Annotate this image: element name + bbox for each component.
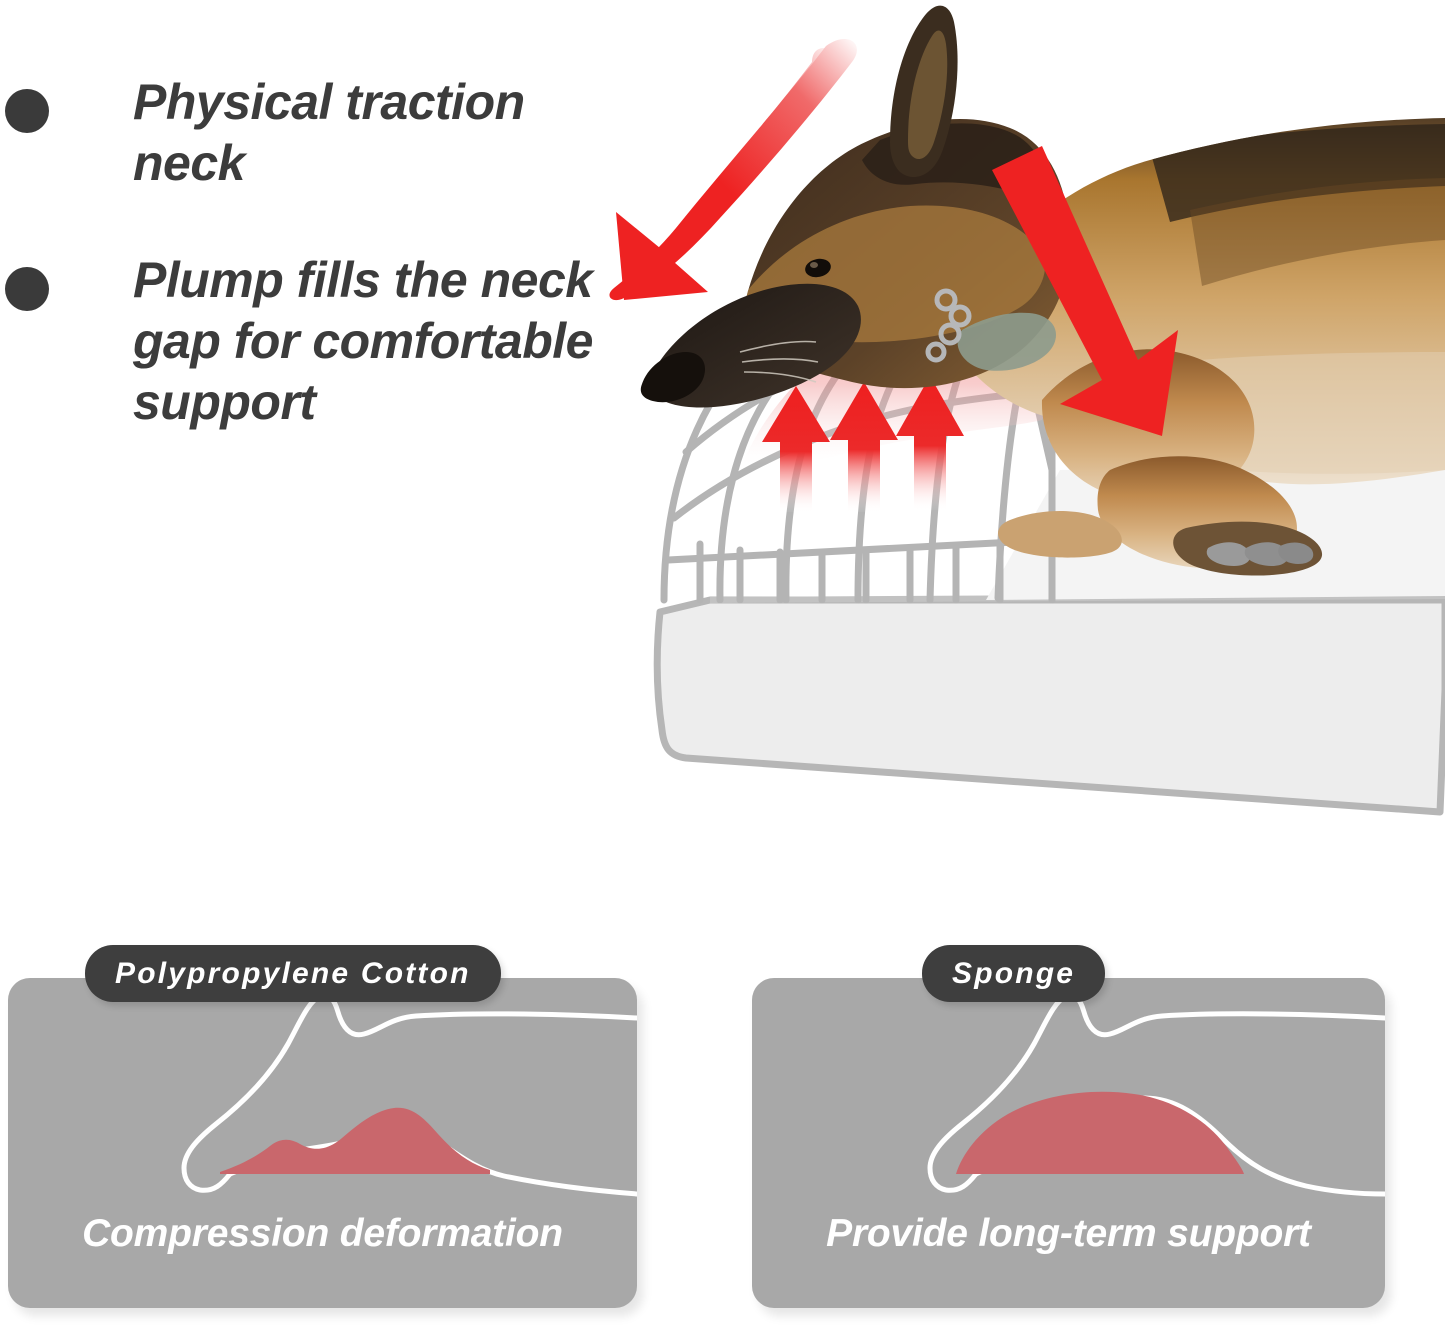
- support-arrow-3: [896, 376, 964, 510]
- feature-bullet-text-2: Plump fills the neck gap for comfortable…: [133, 250, 620, 433]
- support-arrow-1: [762, 386, 830, 512]
- mesh-bolster: [664, 254, 1052, 600]
- bullet-dot-icon: [5, 267, 49, 311]
- list-item: Physical traction neck: [0, 72, 620, 194]
- panel-label-pill-polypropylene-cotton: Polypropylene Cotton: [85, 945, 501, 1002]
- list-item: Plump fills the neck gap for comfortable…: [0, 250, 620, 433]
- bullet-dot-icon: [5, 89, 49, 133]
- comparison-panel-sponge: Sponge Provide long-term support: [752, 978, 1385, 1308]
- panel-label-pill-sponge: Sponge: [922, 945, 1105, 1002]
- bed-base: [657, 596, 1445, 812]
- compressed-pillow-shape: [220, 1108, 490, 1174]
- support-arrow-2: [830, 382, 898, 512]
- panel-caption-compression-deformation: Compression deformation: [8, 1212, 637, 1256]
- bed-top-surface: [986, 462, 1445, 600]
- body-pressure-arrow: [992, 146, 1178, 436]
- dog-photo: [641, 6, 1445, 576]
- support-diagram: [752, 978, 1385, 1308]
- feature-bullet-list: Physical traction neck Plump fills the n…: [0, 72, 620, 433]
- product-infographic: Physical traction neck Plump fills the n…: [0, 0, 1445, 1332]
- hero-illustration: [590, 0, 1445, 880]
- feature-bullet-text-1: Physical traction neck: [133, 72, 620, 194]
- support-arrows: [762, 376, 964, 512]
- panel-caption-provide-long-term-support: Provide long-term support: [752, 1212, 1385, 1256]
- compression-diagram: [8, 978, 637, 1308]
- dome-pillow-shape: [956, 1092, 1244, 1174]
- neck-traction-arrow: [609, 39, 856, 300]
- pressure-glow: [740, 279, 1062, 470]
- comparison-panel-polypropylene-cotton: Polypropylene Cotton Compression deforma…: [8, 978, 637, 1308]
